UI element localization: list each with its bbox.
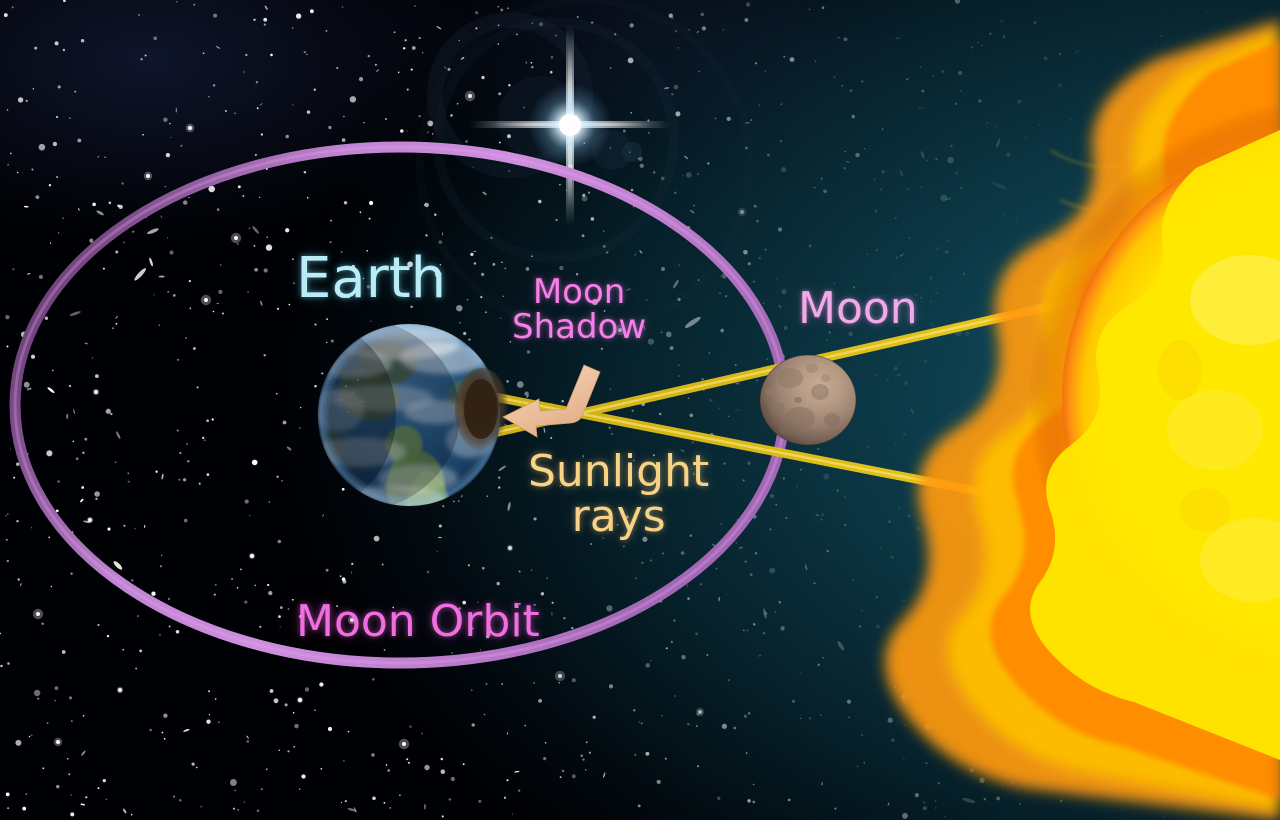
label-moon-orbit: Moon Orbit [296,600,540,645]
label-moon-shadow-line2: Shadow [512,310,646,345]
label-moon: Moon [798,287,918,332]
label-moon-shadow: Moon Shadow [512,275,646,344]
label-moon-shadow-line1: Moon [512,275,646,310]
label-sunlight-rays: Sunlight rays [528,450,709,540]
solar-eclipse-diagram: Earth Moon Moon Orbit Moon Shadow Sunlig… [0,0,1280,820]
moon-shadow-arrow [0,0,1280,820]
label-sunlight-line1: Sunlight [528,450,709,495]
label-sunlight-line2: rays [528,495,709,540]
label-earth: Earth [296,250,446,307]
